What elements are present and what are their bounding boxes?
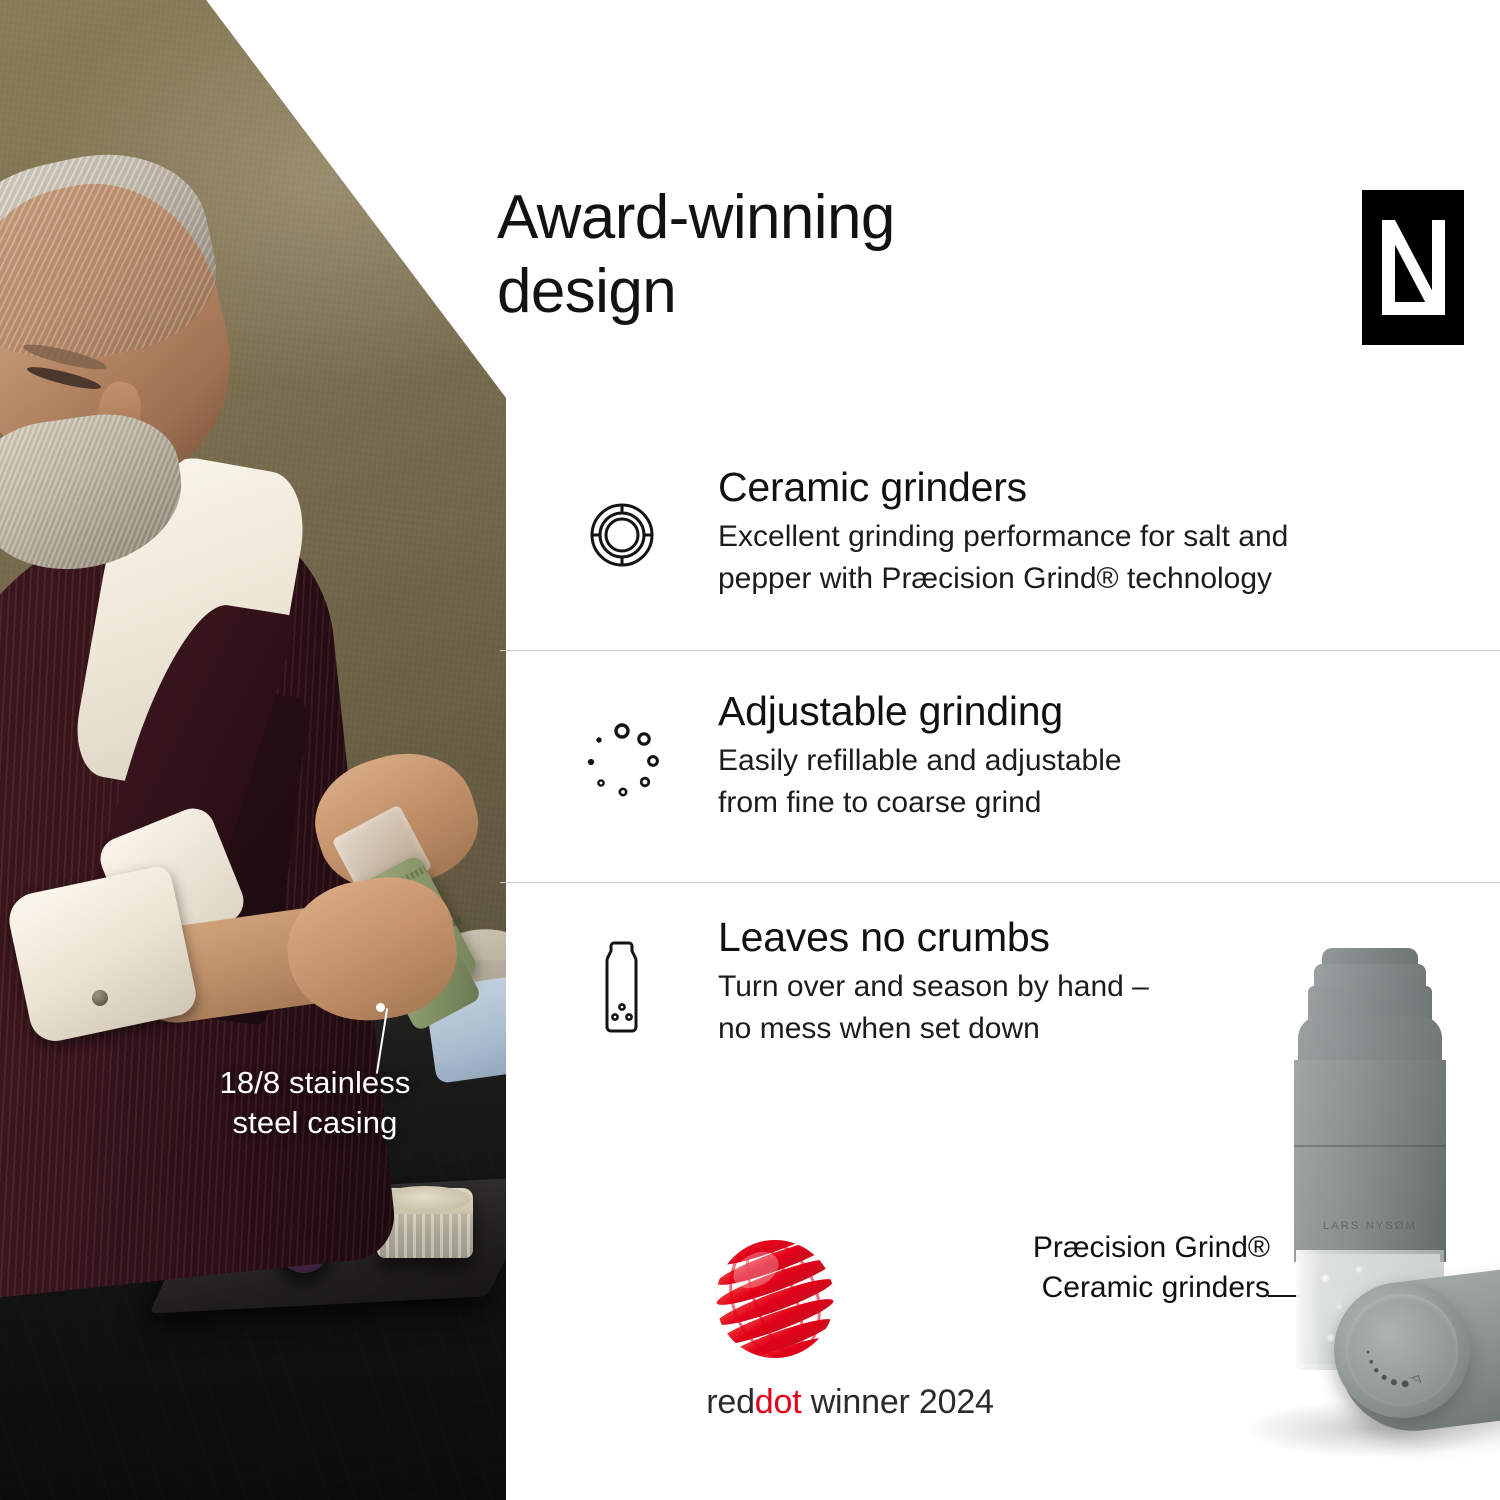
page-title: Award-winning design bbox=[497, 181, 1137, 329]
feature-2-text: Adjustable grinding Easily refillable an… bbox=[718, 686, 1500, 824]
photo-callout-line1: 18/8 stainless bbox=[150, 1063, 480, 1103]
product-feature-graphic: 18/8 stainless steel casing Award-winnin… bbox=[0, 0, 1500, 1500]
reddot-sphere-badge-icon bbox=[712, 1236, 838, 1362]
feature-divider-1 bbox=[500, 650, 1500, 651]
feature-1-title: Ceramic grinders bbox=[718, 462, 1500, 512]
product-dial-graduation-dots bbox=[1337, 1285, 1466, 1414]
photo-cufflink bbox=[92, 990, 108, 1006]
photo-callout-line2: steel casing bbox=[150, 1103, 480, 1143]
feature-1-description: Excellent grinding performance for salt … bbox=[718, 516, 1500, 600]
reddot-award-caption: reddot winner 2024 bbox=[640, 1383, 1060, 1422]
feature-1-desc-line2: pepper with Præcision Grind® technology bbox=[718, 558, 1500, 600]
lifestyle-photo: 18/8 stainless steel casing bbox=[0, 0, 506, 1500]
ceramic-burr-grinder-icon bbox=[578, 480, 666, 590]
grinder-bottle-icon bbox=[578, 932, 666, 1042]
feature-2-desc-line1: Easily refillable and adjustable bbox=[718, 740, 1500, 782]
product-glass-highlight bbox=[1296, 1250, 1322, 1370]
grind-coarseness-dots-icon bbox=[578, 708, 666, 818]
feature-2-desc-line2: from fine to coarse grind bbox=[718, 782, 1500, 824]
headline-line2: design bbox=[497, 255, 1137, 329]
photo-callout-caption: 18/8 stainless steel casing bbox=[150, 1063, 480, 1143]
feature-ceramic-grinders: Ceramic grinders Excellent grinding perf… bbox=[500, 462, 1500, 600]
ln-monogram-logo-icon bbox=[1362, 190, 1464, 345]
feature-1-desc-line1: Excellent grinding performance for salt … bbox=[718, 516, 1500, 558]
product-callout-line1: Præcision Grind® bbox=[950, 1228, 1270, 1268]
product-callout-caption: Præcision Grind® Ceramic grinders bbox=[950, 1228, 1270, 1308]
headline-line1: Award-winning bbox=[497, 181, 1137, 255]
reddot-caption-winner: winner 2024 bbox=[801, 1383, 993, 1421]
product-lower-body bbox=[1294, 1146, 1446, 1262]
feature-1-text: Ceramic grinders Excellent grinding perf… bbox=[718, 462, 1500, 600]
product-callout-line2: Ceramic grinders bbox=[950, 1268, 1270, 1308]
product-brand-text: LARS NYSØM bbox=[1294, 1220, 1446, 1232]
product-body-seam bbox=[1294, 1145, 1446, 1147]
reddot-caption-red: red bbox=[706, 1383, 755, 1421]
reddot-caption-dot: dot bbox=[755, 1383, 802, 1421]
feature-adjustable-grinding: Adjustable grinding Easily refillable an… bbox=[500, 686, 1500, 824]
feature-2-title: Adjustable grinding bbox=[718, 686, 1500, 736]
feature-2-description: Easily refillable and adjustable from fi… bbox=[718, 740, 1500, 824]
feature-divider-2 bbox=[500, 882, 1500, 883]
photo-callout-dot bbox=[376, 1003, 385, 1012]
product-photo: LARS NYSØM ⊾ bbox=[1230, 920, 1500, 1500]
